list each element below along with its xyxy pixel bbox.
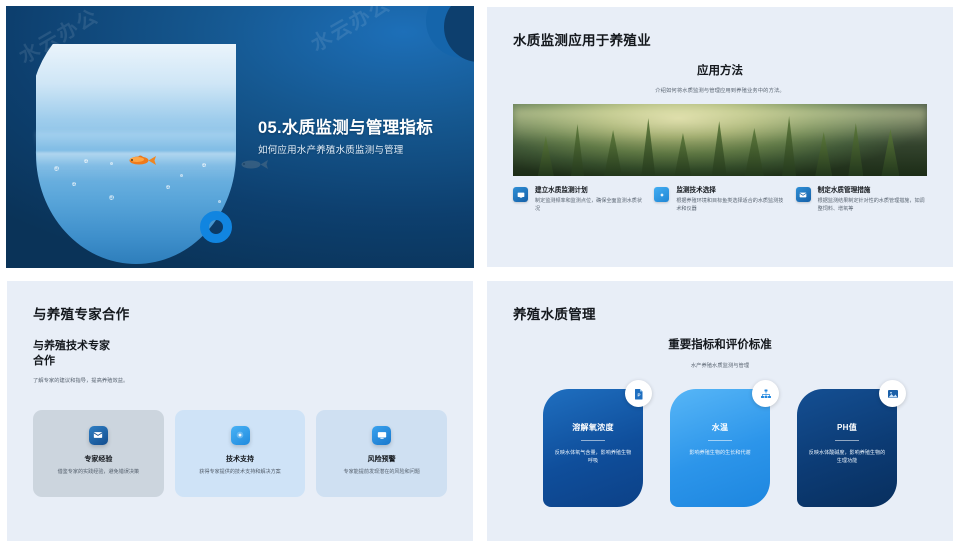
- indicators-canvas: 养殖水质管理 重要指标和评价标准 水产养殖水质监测与管理 P 溶解氧浓度: [487, 281, 953, 541]
- image-icon: [879, 380, 906, 407]
- slide-indicators: 养殖水质管理 重要指标和评价标准 水产养殖水质监测与管理 P 溶解氧浓度: [480, 274, 960, 548]
- mail-measure-icon: [796, 187, 811, 202]
- column-text: 根据养殖环境和目标鱼类选择适合的水质监测技术和仪器: [676, 198, 785, 214]
- indicator-card[interactable]: P 溶解氧浓度 反映水体氧气含量，影响养殖生物呼吸: [543, 389, 643, 507]
- bubble: [109, 195, 114, 200]
- bubble: [166, 185, 170, 189]
- application-intro: 应用方法 介绍如何将水质监测与管理应用到养殖业务中的方法。: [513, 62, 927, 94]
- application-column[interactable]: 监测技术选择 根据养殖环境和目标鱼类选择适合的水质监测技术和仪器: [654, 187, 785, 214]
- card-text: 获得专家提供的技术支持和解决方案: [199, 468, 281, 476]
- decorative-ring: [200, 211, 232, 243]
- experts-cards: 专家经验 借鉴专家的实践经验，避免错误决策 技术支持 获得专家提供的技术支持和解…: [33, 410, 447, 497]
- slide-title: 水云办公 水云办公: [0, 0, 480, 274]
- mail-icon: [89, 426, 108, 445]
- powerpoint-file-icon: P: [625, 380, 652, 407]
- bubble: [180, 174, 183, 177]
- divider: [835, 440, 859, 441]
- card-title: 水温: [681, 422, 759, 433]
- monitor-plan-icon: [513, 187, 528, 202]
- card-title: 风险预警: [368, 454, 396, 464]
- silhouette-fish-icon: [238, 158, 268, 171]
- column-title: 制定水质管理措施: [818, 187, 927, 195]
- card-text: 专家能提前发现潜在的风险和问题: [343, 468, 419, 476]
- application-canvas: 水质监测应用于养殖业 应用方法 介绍如何将水质监测与管理应用到养殖业务中的方法。: [487, 7, 953, 267]
- section-header: 水质监测应用于养殖业: [513, 29, 927, 49]
- column-title: 监测技术选择: [676, 187, 785, 195]
- title-slide-canvas: 水云办公 水云办公: [6, 6, 474, 268]
- monitor-icon: [372, 426, 391, 445]
- forest-photo: [513, 104, 927, 176]
- indicators-intro: 重要指标和评价标准 水产养殖水质监测与管理: [513, 336, 927, 369]
- column-title: 建立水质监测计划: [535, 187, 644, 195]
- column-text: 根据监测结果制定针对性的水质管理措施，如调整饲料、增氧等: [818, 198, 927, 214]
- page-subtitle: 如何应用水产养殖水质监测与管理: [258, 142, 433, 156]
- application-column[interactable]: 建立水质监测计划 制定监测频率和监测点位，确保全面监测水质状况: [513, 187, 644, 214]
- bubble: [202, 163, 206, 167]
- section-header: 与养殖专家合作: [33, 303, 447, 323]
- slide-application: 水质监测应用于养殖业 应用方法 介绍如何将水质监测与管理应用到养殖业务中的方法。: [480, 0, 960, 274]
- card-text: 影响养殖生物的生长和代谢: [681, 449, 759, 457]
- expert-card[interactable]: 技术支持 获得专家提供的技术支持和解决方案: [175, 410, 306, 497]
- slide-experts: 与养殖专家合作 与养殖技术专家 合作 了解专家的建议和指导，提高养殖效益。 专家…: [0, 274, 480, 548]
- indicator-card[interactable]: 水温 影响养殖生物的生长和代谢: [670, 389, 770, 507]
- application-heading: 应用方法: [513, 62, 927, 78]
- section-header: 养殖水质管理: [513, 303, 927, 323]
- title-text-block: 05.水质监测与管理指标 如何应用水产养殖水质监测与管理: [258, 114, 433, 156]
- card-text: 反映水体酸碱度，影响养殖生物的生理功能: [808, 449, 886, 466]
- slide-grid: 水云办公 水云办公: [0, 0, 960, 548]
- org-chart-icon: [752, 380, 779, 407]
- expert-card[interactable]: 专家经验 借鉴专家的实践经验，避免错误决策: [33, 410, 164, 497]
- indicators-description: 水产养殖水质监测与管理: [513, 361, 927, 369]
- card-title: 专家经验: [84, 454, 112, 464]
- card-title: 溶解氧浓度: [554, 422, 632, 433]
- goldfish-icon: [126, 154, 156, 167]
- experts-heading-line1: 与养殖技术专家: [33, 339, 447, 354]
- indicator-card[interactable]: PH值 反映水体酸碱度，影响养殖生物的生理功能: [797, 389, 897, 507]
- bubble: [72, 182, 76, 186]
- experts-canvas: 与养殖专家合作 与养殖技术专家 合作 了解专家的建议和指导，提高养殖效益。 专家…: [7, 281, 473, 541]
- card-text: 借鉴专家的实践经验，避免错误决策: [58, 468, 140, 476]
- divider: [581, 440, 605, 441]
- svg-text:P: P: [637, 392, 640, 397]
- column-text: 制定监测频率和监测点位，确保全面监测水质状况: [535, 198, 644, 214]
- expert-card[interactable]: 风险预警 专家能提前发现潜在的风险和问题: [316, 410, 447, 497]
- indicators-heading: 重要指标和评价标准: [513, 336, 927, 352]
- water-surface-highlight: [36, 132, 236, 148]
- bubble: [218, 200, 221, 203]
- card-title: PH值: [808, 422, 886, 433]
- application-columns: 建立水质监测计划 制定监测频率和监测点位，确保全面监测水质状况 监测技术选择 根…: [513, 187, 927, 214]
- watermark: 水云办公: [305, 6, 396, 57]
- card-text: 反映水体氧气含量，影响养殖生物呼吸: [554, 449, 632, 466]
- bubble: [84, 159, 88, 163]
- gear-icon: [231, 426, 250, 445]
- bubble: [110, 162, 113, 165]
- experts-heading-line2: 合作: [33, 354, 447, 369]
- application-description: 介绍如何将水质监测与管理应用到养殖业务中的方法。: [513, 86, 927, 94]
- card-title: 技术支持: [226, 454, 254, 464]
- application-column[interactable]: 制定水质管理措施 根据监测结果制定针对性的水质管理措施，如调整饲料、增氧等: [796, 187, 927, 214]
- page-title: 05.水质监测与管理指标: [258, 114, 433, 138]
- settings-gear-icon: [654, 187, 669, 202]
- experts-description: 了解专家的建议和指导，提高养殖效益。: [33, 376, 447, 384]
- bubble: [54, 166, 59, 171]
- divider: [708, 440, 732, 441]
- indicator-cards: P 溶解氧浓度 反映水体氧气含量，影响养殖生物呼吸: [513, 389, 927, 507]
